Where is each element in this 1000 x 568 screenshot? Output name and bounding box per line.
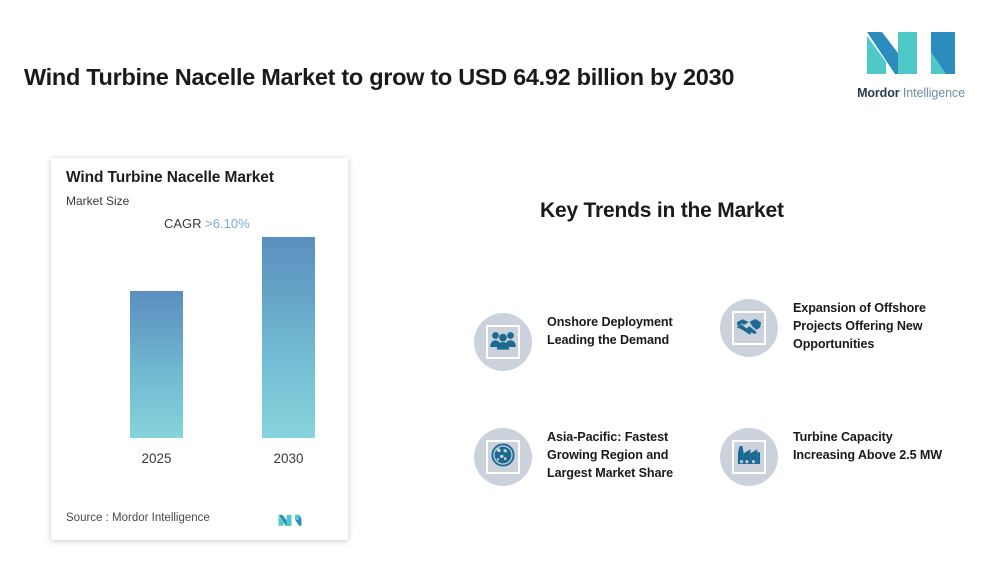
brand-name-light: Intelligence — [900, 86, 965, 100]
people-group-icon — [490, 330, 516, 355]
cagr-value: >6.10% — [205, 216, 249, 231]
bar-label-2030: 2030 — [262, 451, 315, 466]
chart-title: Wind Turbine Nacelle Market — [66, 169, 274, 187]
market-size-chart-card: Wind Turbine Nacelle Market Market Size … — [51, 158, 348, 540]
bar-2030 — [262, 237, 315, 438]
factory-icon — [737, 445, 761, 470]
chart-subtitle: Market Size — [66, 194, 129, 208]
trend-icon-badge — [474, 428, 532, 486]
mordor-m-logo-icon — [865, 22, 957, 79]
trend-item-turbine-capacity: Turbine Capacity Increasing Above 2.5 MW — [720, 428, 950, 486]
chart-footer: Source : Mordor Intelligence — [66, 510, 336, 530]
trend-label: Asia-Pacific: Fastest Growing Region and… — [547, 429, 704, 483]
brand-name-bold: Mordor — [857, 86, 899, 100]
globe-icon — [491, 443, 515, 472]
cagr-label: CAGR — [164, 216, 205, 231]
trend-label: Onshore Deployment Leading the Demand — [547, 314, 704, 350]
trend-item-onshore-deployment: Onshore Deployment Leading the Demand — [474, 313, 704, 371]
mordor-m-logo-icon — [278, 511, 302, 532]
brand-logo: Mordor Intelligence — [847, 0, 975, 122]
trend-item-asia-pacific: Asia-Pacific: Fastest Growing Region and… — [474, 428, 704, 486]
trend-label: Turbine Capacity Increasing Above 2.5 MW — [793, 429, 950, 465]
brand-wordmark: Mordor Intelligence — [857, 86, 965, 100]
trend-label: Expansion of Offshore Projects Offering … — [793, 300, 950, 354]
trend-icon-badge — [720, 299, 778, 357]
trend-icon-badge — [720, 428, 778, 486]
trend-icon-frame — [486, 440, 520, 474]
trend-icon-frame — [486, 325, 520, 359]
cagr-annotation: CAGR >6.10% — [164, 216, 250, 231]
trend-item-offshore-expansion: Expansion of Offshore Projects Offering … — [720, 299, 950, 357]
bar-label-2025: 2025 — [130, 451, 183, 466]
bar-2025 — [130, 291, 183, 438]
trend-icon-frame — [732, 440, 766, 474]
page-title: Wind Turbine Nacelle Market to grow to U… — [24, 63, 824, 91]
chart-source-label: Source : Mordor Intelligence — [66, 512, 210, 524]
trend-icon-frame — [732, 311, 766, 345]
key-trends-heading: Key Trends in the Market — [540, 199, 784, 223]
trend-icon-badge — [474, 313, 532, 371]
handshake-icon — [736, 317, 762, 340]
bar-chart-plot-area: 2025 2030 — [51, 258, 348, 498]
